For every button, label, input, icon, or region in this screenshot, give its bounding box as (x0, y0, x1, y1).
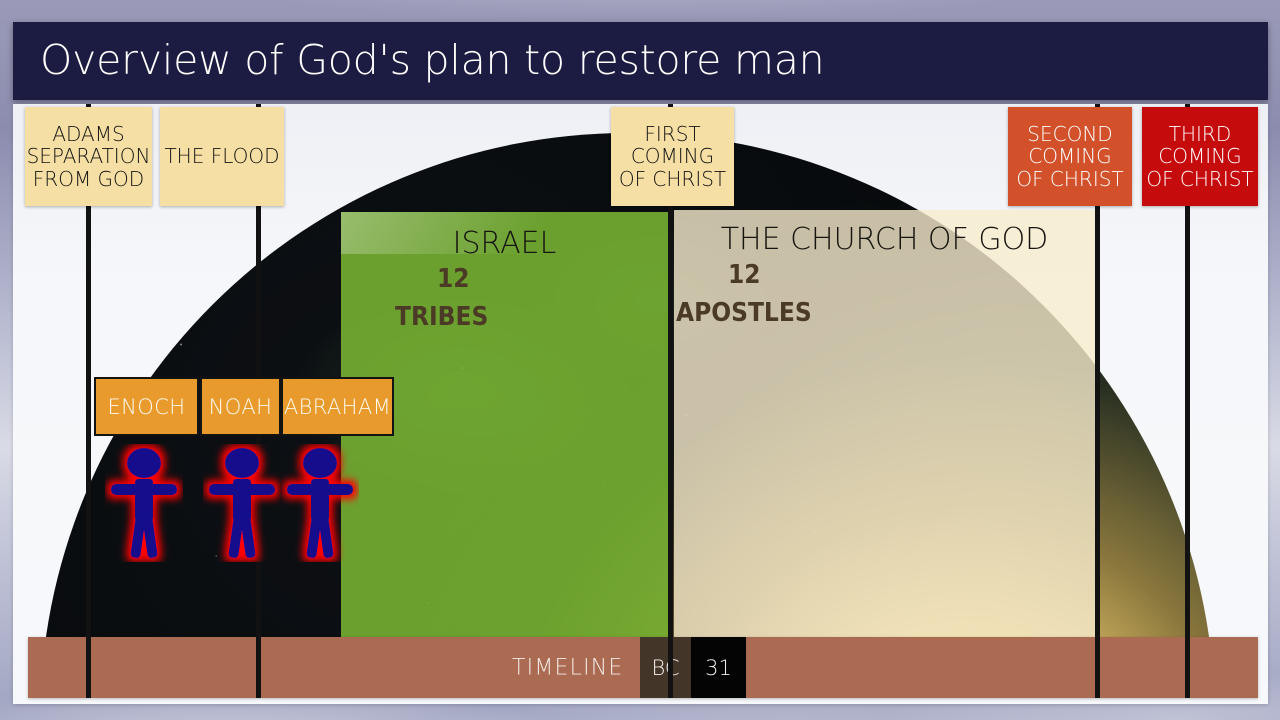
stick-figure-abraham (281, 444, 359, 562)
sign-second-coming[interactable]: SECOND COMING OF CHRIST (1008, 107, 1132, 206)
israel-count: 12 (437, 264, 470, 294)
sign-third-coming[interactable]: THIRD COMING OF CHRIST (1142, 107, 1258, 206)
plate-abraham[interactable]: ABRAHAM (281, 377, 394, 436)
timeline-year-chip: 31 (691, 637, 746, 698)
sign-third-coming-line-2: COMING (1158, 145, 1241, 168)
sign-adams-line-2: SEPARATION (27, 145, 151, 168)
church-count: 12 (728, 260, 761, 290)
israel-title: ISRAEL (341, 226, 668, 261)
plate-enoch-label: ENOCH (108, 395, 186, 419)
plate-noah[interactable]: NOAH (200, 377, 281, 436)
sign-adams-separation[interactable]: ADAMS SEPARATION FROM GOD (25, 107, 152, 206)
page-title: Overview of God's plan to restore man (40, 36, 824, 84)
timeline-bar: TIMELINE BC 31 (28, 637, 1258, 698)
slide-title-bar: Overview of God's plan to restore man (13, 22, 1268, 100)
timeline-bc-label: BC (651, 656, 679, 680)
board-bottom-edge (13, 698, 1268, 704)
sign-first-coming-line-1: FIRST (644, 123, 700, 146)
era-block-church: THE CHURCH OF GOD 12 APOSTLES (674, 210, 1095, 641)
israel-unit: TRIBES (395, 302, 488, 332)
sign-second-coming-line-2: COMING (1028, 145, 1111, 168)
stick-figure-noah (203, 444, 281, 562)
presentation-slide: Overview of God's plan to restore man IS… (0, 0, 1280, 720)
timeline-bc-chip: BC (640, 637, 691, 698)
sign-first-coming-line-3: OF CHRIST (619, 168, 726, 191)
plate-enoch[interactable]: ENOCH (94, 377, 199, 436)
sign-the-flood[interactable]: THE FLOOD (160, 107, 284, 206)
sign-second-coming-line-1: SECOND (1027, 123, 1112, 146)
plate-noah-label: NOAH (209, 395, 273, 419)
sign-third-coming-line-3: OF CHRIST (1146, 168, 1253, 191)
sign-first-coming-line-2: COMING (631, 145, 714, 168)
sign-second-coming-line-3: OF CHRIST (1016, 168, 1123, 191)
timeline-year-label: 31 (705, 656, 732, 680)
sign-first-coming[interactable]: FIRST COMING OF CHRIST (611, 107, 734, 206)
sign-adams-line-3: FROM GOD (33, 168, 144, 191)
sign-third-coming-line-1: THIRD (1169, 123, 1231, 146)
church-title: THE CHURCH OF GOD (674, 222, 1095, 257)
timeline-label: TIMELINE (512, 655, 624, 680)
sign-flood-line-1: THE FLOOD (164, 145, 279, 168)
plate-abraham-label: ABRAHAM (284, 395, 391, 419)
stick-figure-enoch (105, 444, 183, 562)
church-unit: APOSTLES (676, 298, 812, 328)
sign-adams-line-1: ADAMS (52, 123, 124, 146)
